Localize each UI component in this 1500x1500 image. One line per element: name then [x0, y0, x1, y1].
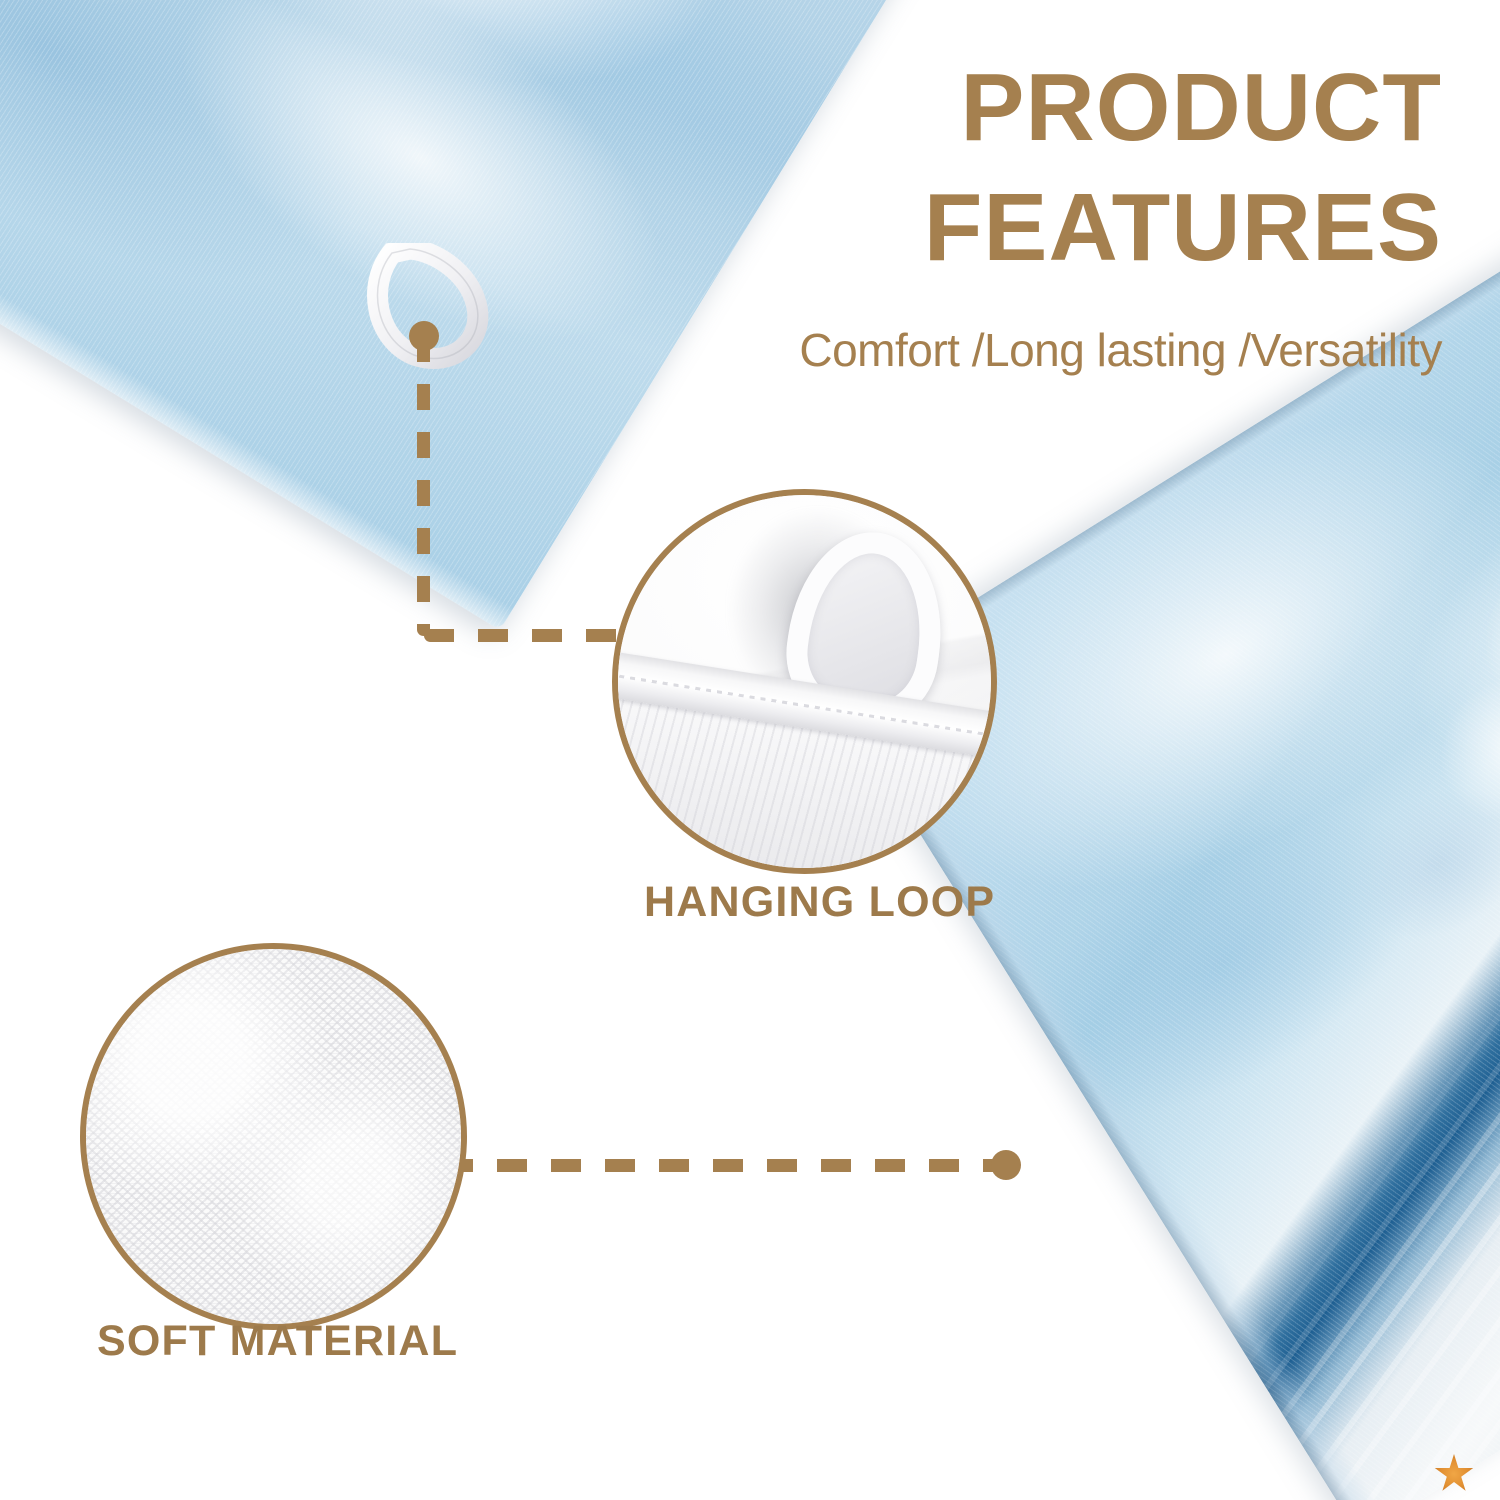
page-title-line1: PRODUCT [960, 54, 1442, 161]
hanging-loop-closeup-photo [618, 495, 991, 868]
connector-horizontal-hanging-loop [424, 629, 624, 642]
terry-texture-icon [86, 949, 461, 1324]
detail-circle-soft-material [80, 943, 467, 1330]
connector-horizontal-soft-material [443, 1159, 1003, 1172]
detail-circle-hanging-loop [612, 489, 997, 874]
feature-label-hanging-loop: HANGING LOOP [644, 878, 995, 927]
connector-dot-soft-material [991, 1150, 1021, 1180]
page-title-line2: FEATURES [682, 168, 1442, 288]
soft-material-closeup-photo [86, 949, 461, 1324]
hanging-loop-on-towel-icon [358, 243, 508, 373]
page-subtitle: Comfort /Long lasting /Versatility [542, 325, 1442, 376]
feature-label-soft-material: SOFT MATERIAL [97, 1317, 458, 1366]
product-features-infographic: PRODUCT FEATURES Comfort /Long lasting /… [0, 0, 1500, 1500]
connector-vertical-hanging-loop [417, 336, 430, 636]
page-title: PRODUCT FEATURES [682, 48, 1442, 288]
